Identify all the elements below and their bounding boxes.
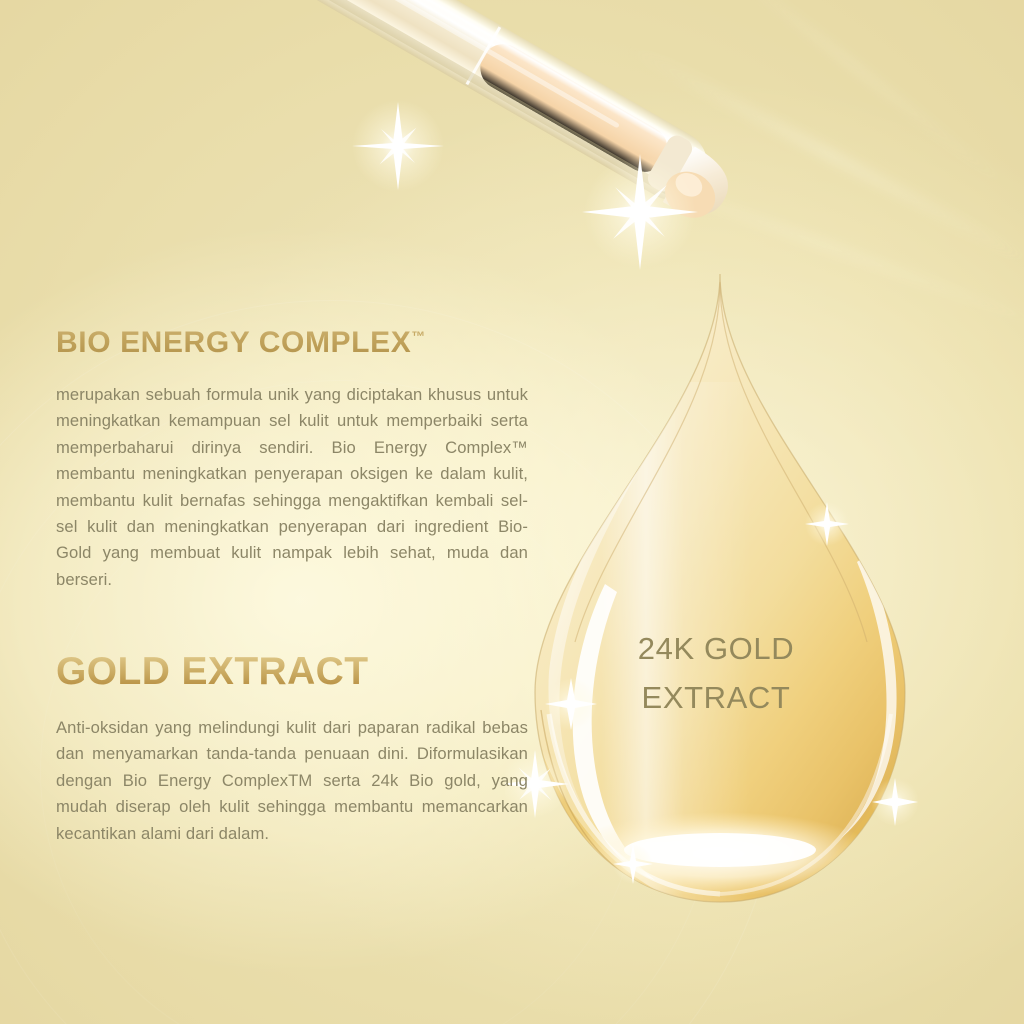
droplet-label-line1: 24K GOLD <box>566 624 866 673</box>
sparkle-icon <box>805 502 849 546</box>
gold-oil-droplet-icon <box>505 262 935 922</box>
heading-bio-energy-complex: BIO ENERGY COMPLEX™ <box>56 326 528 360</box>
paragraph-bio-energy-complex: merupakan sebuah formula unik yang dicip… <box>56 382 528 593</box>
section-gold-extract: GOLD EXTRACT Anti-oksidan yang melindung… <box>56 650 528 847</box>
heading-gold-extract: GOLD EXTRACT <box>56 650 528 694</box>
sparkle-icon <box>582 154 698 270</box>
section-bio-energy-complex: BIO ENERGY COMPLEX™ merupakan sebuah for… <box>56 326 528 593</box>
trademark-symbol: ™ <box>411 329 425 344</box>
droplet-label-line2: EXTRACT <box>566 673 866 722</box>
paragraph-gold-extract: Anti-oksidan yang melindungi kulit dari … <box>56 715 528 847</box>
sparkle-icon <box>352 100 444 192</box>
heading-gold-extract-text: GOLD EXTRACT <box>56 650 368 693</box>
heading-bio-energy-complex-text: BIO ENERGY COMPLEX <box>56 326 411 359</box>
droplet-label: 24K GOLD EXTRACT <box>566 624 866 722</box>
poster-canvas: 24K GOLD EXTRACT BIO ENERGY COMPLEX™ mer… <box>0 0 1024 1024</box>
sparkle-icon <box>871 778 919 826</box>
sparkle-icon <box>613 844 653 884</box>
